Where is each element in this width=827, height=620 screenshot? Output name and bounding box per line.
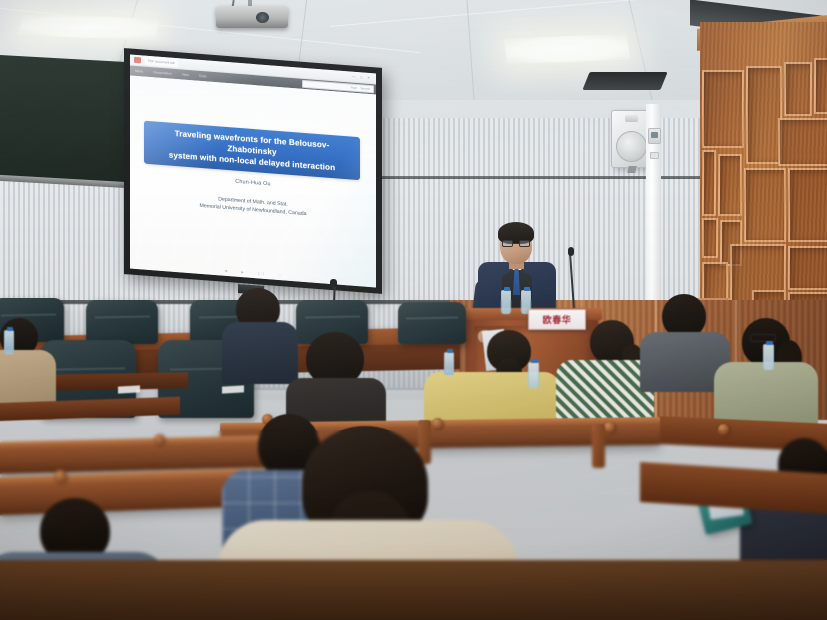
bench-knob [604,422,615,433]
bench-divider [592,424,605,468]
shelf-cell [720,220,742,266]
slide-fullscreen-icon[interactable]: ⬚ [278,273,281,277]
water-bottle [763,344,774,370]
search-hint-label: Find [351,86,357,90]
projector-lens-icon [256,12,269,23]
bench-knob [718,424,729,435]
wall-switch-icon[interactable] [650,152,659,159]
name-card [222,385,244,393]
ceiling-air-vent-icon [582,72,667,90]
podium-microphone-head-icon [568,247,574,256]
name-card [118,385,140,393]
toolbar-item-2[interactable]: View [182,73,189,78]
speaker-bracket [627,166,636,173]
lecture-hall-photo: PDF document tab — □ ✕ Menu Presentation… [0,0,827,620]
slide-title-banner: Traveling wavefronts for the Belousov-Zh… [144,121,360,181]
shelf-cell [702,218,718,258]
slide-next-icon[interactable]: ▶ [241,270,244,274]
executive-chair[interactable] [398,302,466,344]
water-bottle [501,290,511,314]
shelf-cell [814,58,827,114]
shelf-cell [746,66,782,164]
bench-knob [54,470,67,483]
toolbar-item-3[interactable]: Tools [199,74,207,79]
slide-canvas: Traveling wavefronts for the Belousov-Zh… [130,76,376,288]
presenter-glasses-icon [502,240,530,247]
projection-screen[interactable]: PDF document tab — □ ✕ Menu Presentation… [130,55,376,288]
toolbar-item-0[interactable]: Menu [135,69,143,74]
slide-affiliation: Department of Math. and Stat. Memorial U… [130,189,376,224]
shelf-cell [788,168,827,242]
podium-nameplate: 欧春华 [528,309,586,330]
shelf-cell [718,154,742,216]
shelf-cell [702,150,716,216]
water-bottle [444,352,454,376]
toolbar-item-1[interactable]: Presentation [153,70,172,75]
wall-control-panel-icon[interactable] [648,128,661,144]
bench-knob [432,418,443,429]
search-placeholder-label: Search [360,86,370,91]
bench-knob [154,434,165,445]
floor [0,560,827,620]
shelf-cell [784,62,812,116]
executive-chair[interactable] [86,300,158,344]
ceiling-projector-icon [216,6,288,28]
shelf-cell [744,168,786,242]
water-bottle [4,330,14,354]
control-panel-screen [651,132,658,138]
nameplate-text: 欧春华 [543,313,572,326]
slide-page-indicator: 1 / 1 [258,271,265,276]
water-bottle [528,362,539,388]
app-tab[interactable]: PDF document tab [145,57,178,68]
desk-microphone-head-icon [330,279,337,287]
window-buttons[interactable]: — □ ✕ [352,75,372,81]
speaker-cone-icon [616,131,647,162]
shelf-cell [702,70,744,148]
shelf-cell [778,118,827,166]
shelf-cell [788,246,827,290]
speaker-tweeter-icon [625,115,638,122]
recessed-led-panel-left-icon [18,14,160,41]
recessed-led-panel-right-icon [503,34,630,64]
wps-logo-icon [134,57,141,64]
slide-prev-icon[interactable]: ◀ [224,269,227,273]
